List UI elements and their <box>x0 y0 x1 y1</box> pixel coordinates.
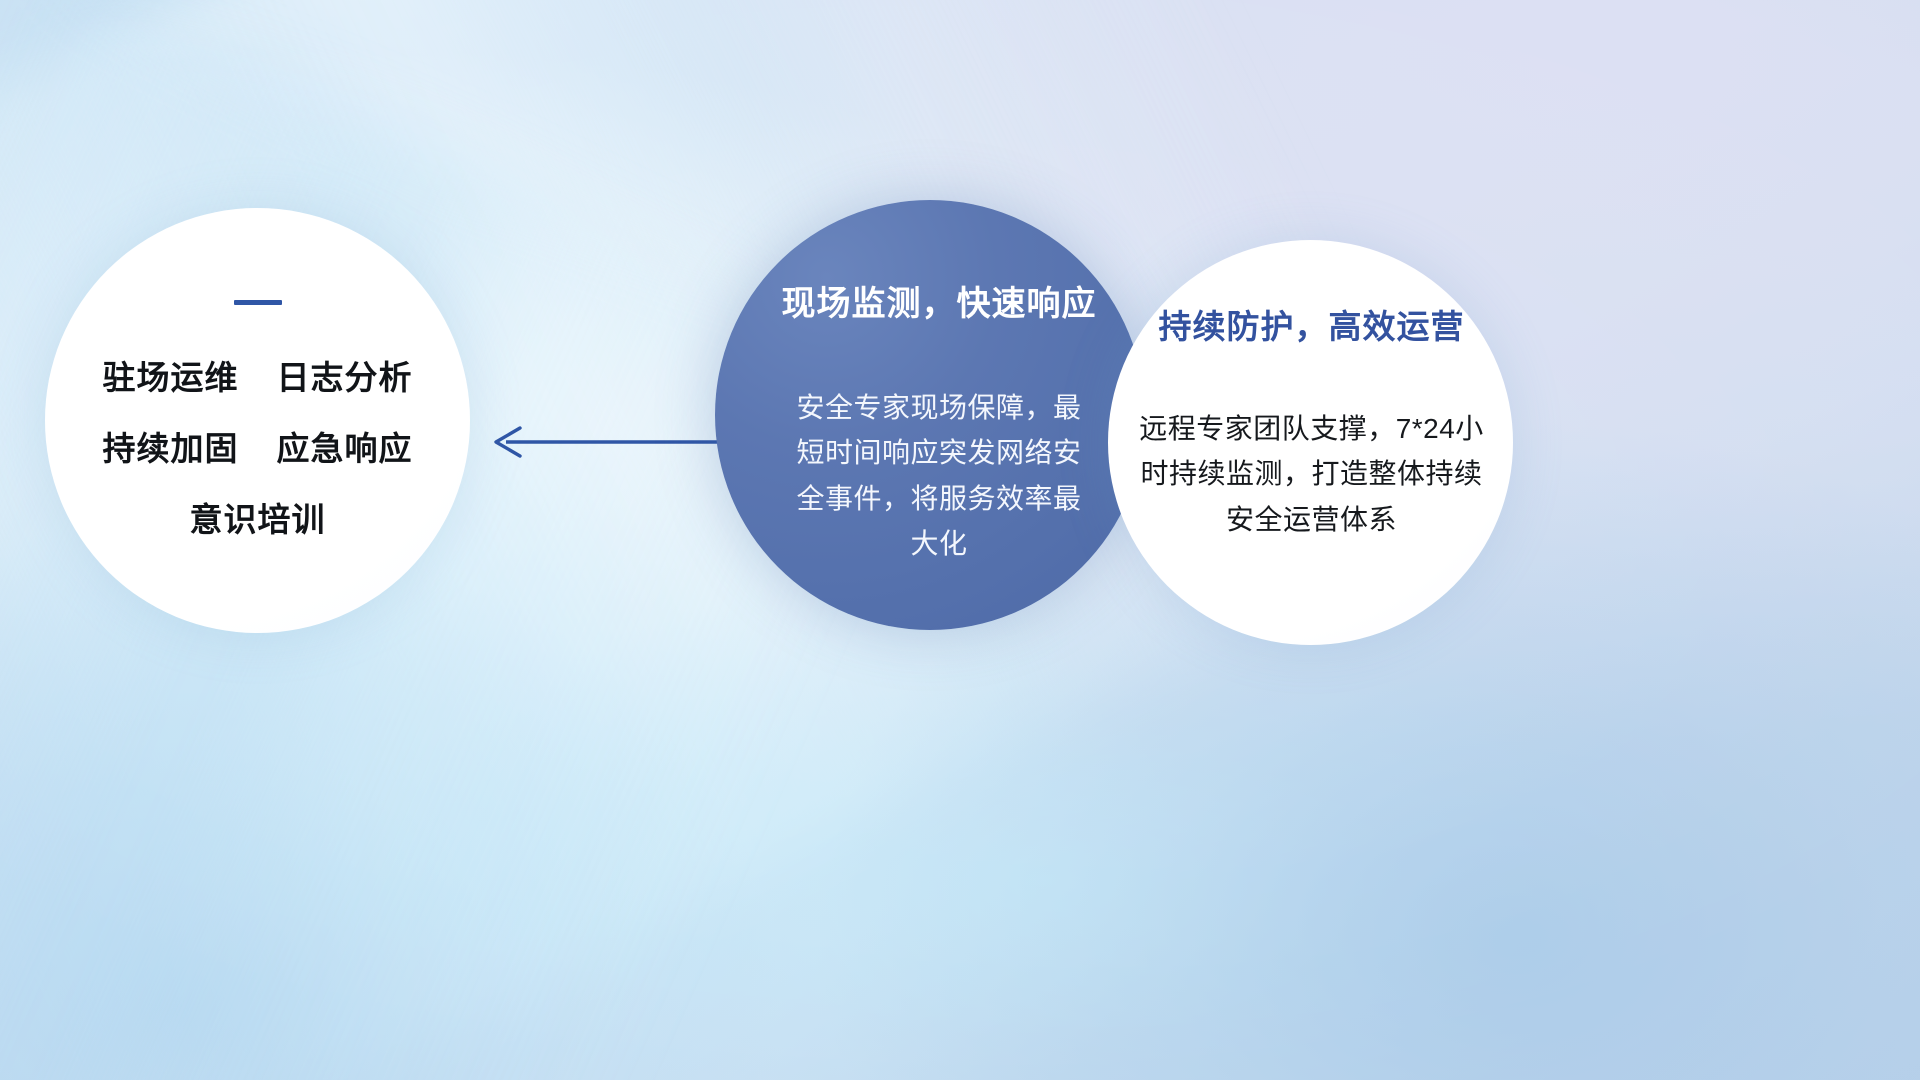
arrow-left-icon <box>496 428 738 456</box>
table-row: 意识培训 <box>190 493 326 541</box>
onsite-monitoring-content: 现场监测，快速响应 安全专家现场保障，最短时间响应突发网络安全事件，将服务效率最… <box>753 276 1125 566</box>
continuous-protection-content: 持续防护，高效运营 远程专家团队支撑，7*24小时持续监测，打造整体持续安全运营… <box>1124 300 1499 542</box>
diagram-stage: 驻场运维 日志分析 持续加固 应急响应 意识培训 现场监测，快速响应 安全专家现… <box>0 0 1920 1080</box>
list-item[interactable]: 日志分析 <box>277 351 413 399</box>
table-row: 持续加固 应急响应 <box>103 422 413 470</box>
connector-arrow <box>470 400 740 485</box>
divider-dash <box>234 300 282 305</box>
continuous-protection-title: 持续防护，高效运营 <box>1159 300 1465 348</box>
list-item[interactable]: 持续加固 <box>103 422 239 470</box>
continuous-protection-circle[interactable]: 持续防护，高效运营 远程专家团队支撑，7*24小时持续监测，打造整体持续安全运营… <box>1108 240 1513 645</box>
continuous-protection-body: 远程专家团队支撑，7*24小时持续监测，打造整体持续安全运营体系 <box>1137 406 1487 542</box>
table-row: 驻场运维 日志分析 <box>103 351 413 399</box>
onsite-monitoring-body: 安全专家现场保障，最短时间响应突发网络安全事件，将服务效率最大化 <box>789 385 1089 566</box>
capability-tags-circle[interactable]: 驻场运维 日志分析 持续加固 应急响应 意识培训 <box>45 208 470 633</box>
onsite-monitoring-title: 现场监测，快速响应 <box>782 276 1097 325</box>
capability-tag-rows: 驻场运维 日志分析 持续加固 应急响应 意识培训 <box>103 351 413 541</box>
list-item[interactable]: 意识培训 <box>190 493 326 541</box>
list-item[interactable]: 应急响应 <box>277 422 413 470</box>
onsite-monitoring-circle[interactable]: 现场监测，快速响应 安全专家现场保障，最短时间响应突发网络安全事件，将服务效率最… <box>715 200 1145 630</box>
list-item[interactable]: 驻场运维 <box>103 351 239 399</box>
